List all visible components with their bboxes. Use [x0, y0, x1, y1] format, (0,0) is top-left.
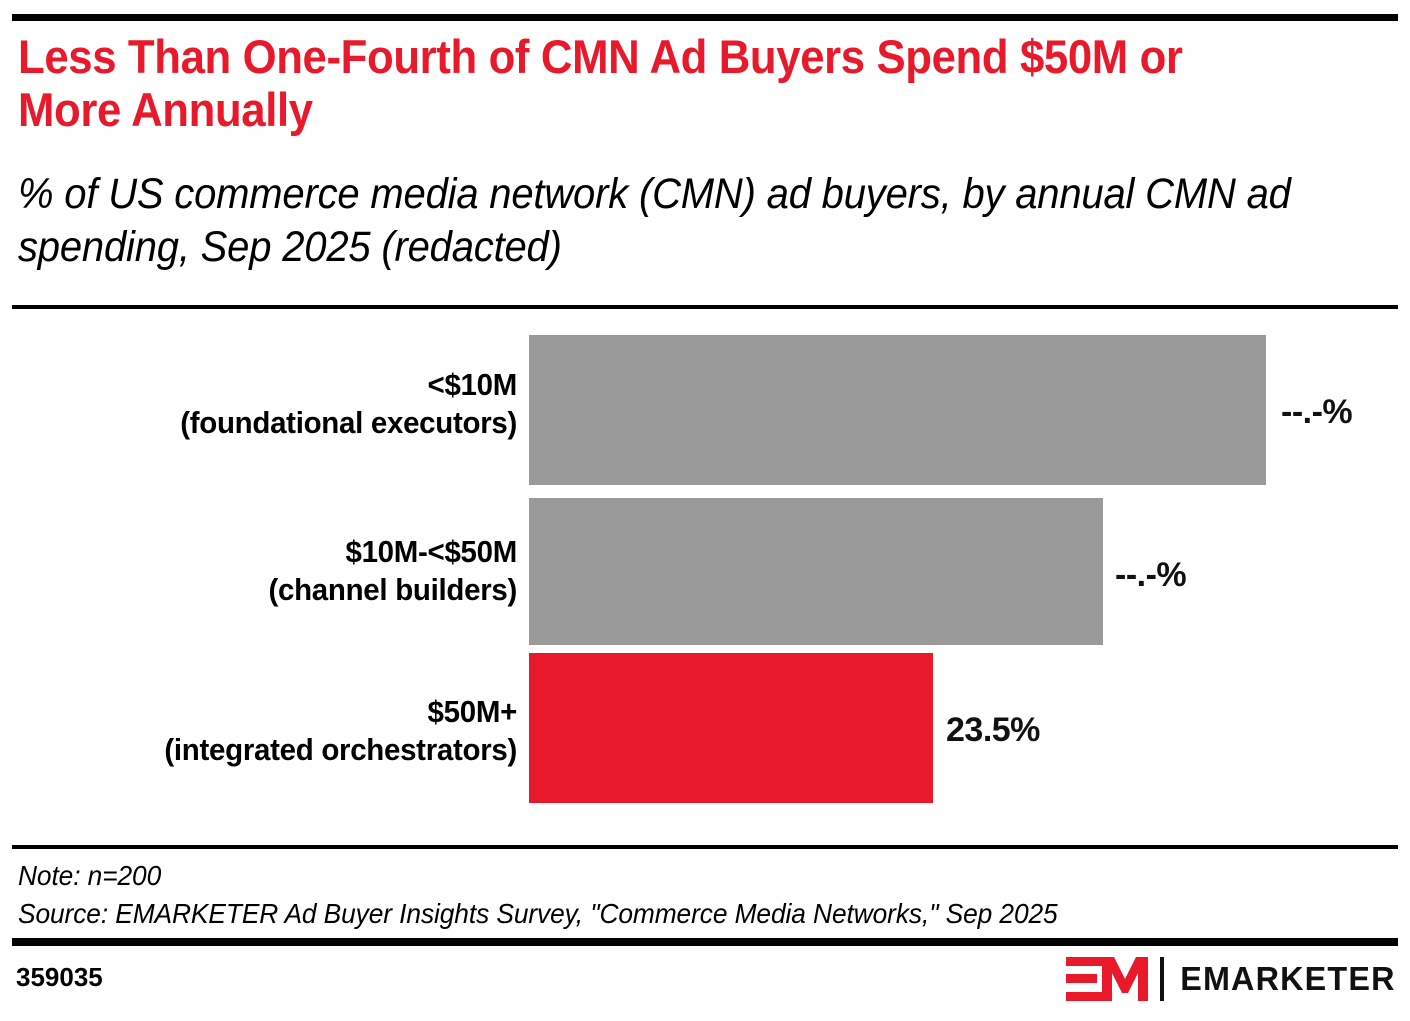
footer-top-divider-rule	[12, 845, 1398, 849]
bar-segment[interactable]	[529, 335, 1266, 485]
logo-divider	[1160, 957, 1164, 1001]
footer-bottom-divider-rule	[12, 938, 1398, 946]
bar-value-label: --.-%	[1115, 558, 1186, 592]
header-divider-rule	[12, 305, 1398, 309]
chart-id-number: 359035	[16, 962, 103, 993]
em-monogram-icon	[1066, 957, 1148, 1001]
chart-row: <$10M (foundational executors) --.-%	[0, 318, 1410, 486]
bar-category-label-line1: $50M+	[35, 693, 517, 731]
footer-source: Source: EMARKETER Ad Buyer Insights Surv…	[18, 894, 1058, 933]
bar-value-label: --.-%	[1281, 395, 1352, 429]
logo-wordmark: EMARKETER	[1180, 960, 1395, 998]
bar-category-label-line2: (integrated orchestrators)	[35, 731, 517, 769]
bar-segment[interactable]	[529, 653, 933, 803]
chart-row: $10M-<$50M (channel builders) --.-%	[0, 486, 1410, 653]
chart-page: Less Than One-Fourth of CMN Ad Buyers Sp…	[0, 0, 1410, 1021]
bar-category-label: $10M-<$50M (channel builders)	[35, 533, 517, 609]
bar-chart: <$10M (foundational executors) --.-% $10…	[0, 318, 1410, 838]
chart-row: $50M+ (integrated orchestrators) 23.5%	[0, 641, 1410, 811]
bar-category-label-line1: $10M-<$50M	[35, 533, 517, 571]
bar-category-label-line2: (foundational executors)	[35, 404, 517, 442]
footer-note: Note: n=200	[18, 856, 161, 895]
bar-category-label: $50M+ (integrated orchestrators)	[35, 693, 517, 769]
bar-category-label-line2: (channel builders)	[35, 571, 517, 609]
bar-category-label: <$10M (foundational executors)	[35, 366, 517, 442]
emarketer-logo: EMARKETER	[1066, 955, 1398, 1003]
bar-category-label-line1: <$10M	[35, 366, 517, 404]
chart-title: Less Than One-Fourth of CMN Ad Buyers Sp…	[18, 30, 1292, 136]
bar-value-label: 23.5%	[946, 713, 1040, 747]
bar-segment[interactable]	[529, 498, 1103, 645]
chart-subtitle: % of US commerce media network (CMN) ad …	[18, 168, 1311, 274]
top-divider-rule	[12, 14, 1398, 21]
